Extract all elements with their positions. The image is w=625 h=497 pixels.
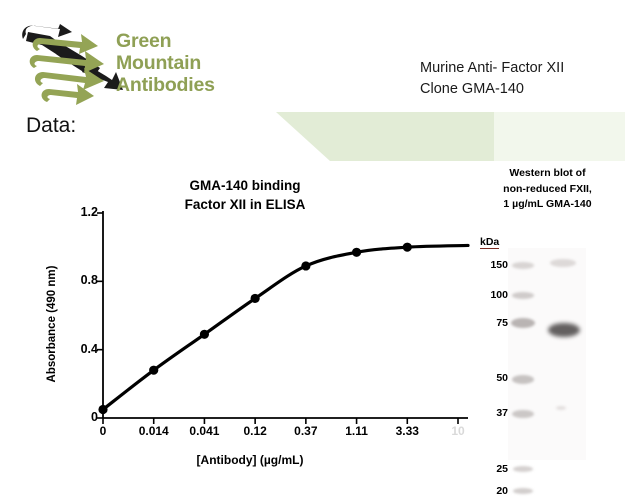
document-title-line-2: Clone GMA-140 xyxy=(420,79,564,100)
ladder-band-25 xyxy=(513,466,533,472)
ladder-label-75: 75 xyxy=(474,317,508,329)
chart-data-point-2 xyxy=(200,330,209,339)
molecular-weight-ladder-labels: 1501007550372520 xyxy=(474,166,508,486)
sample-band-faint-mid xyxy=(556,406,566,410)
sample-band-fxii xyxy=(548,323,580,337)
chart-data-point-5 xyxy=(352,248,361,257)
ladder-label-50: 50 xyxy=(474,372,508,384)
banner-band-light xyxy=(494,112,625,161)
ladder-label-37: 37 xyxy=(474,407,508,419)
brand-name-line-2: Mountain xyxy=(116,52,256,74)
chart-data-point-6 xyxy=(403,243,412,252)
section-heading-data: Data: xyxy=(26,114,76,138)
elisa-binding-chart: GMA-140 binding Factor XII in ELISA Abso… xyxy=(0,168,470,478)
ladder-band-150 xyxy=(512,262,534,269)
ladder-band-20 xyxy=(513,488,533,494)
ladder-band-50 xyxy=(512,375,534,384)
ladder-label-25: 25 xyxy=(474,463,508,475)
western-blot-image xyxy=(508,248,586,460)
ladder-label-150: 150 xyxy=(474,259,508,271)
brand-name: Green Mountain Antibodies xyxy=(116,30,256,96)
document-title: Murine Anti- Factor XII Clone GMA-140 xyxy=(420,58,564,100)
ladder-label-100: 100 xyxy=(474,289,508,301)
chart-data-point-3 xyxy=(251,294,260,303)
document-title-line-1: Murine Anti- Factor XII xyxy=(420,58,564,79)
chart-data-points xyxy=(98,243,411,414)
brand-name-line-3: Antibodies xyxy=(116,74,256,96)
ladder-band-37 xyxy=(512,410,534,418)
ladder-band-75 xyxy=(511,318,535,328)
chart-data-point-0 xyxy=(98,405,107,414)
ladder-label-20: 20 xyxy=(474,485,508,497)
chart-data-point-4 xyxy=(301,261,310,270)
sample-band-faint-top xyxy=(550,259,576,267)
chart-series-line xyxy=(103,245,468,409)
chart-data-point-1 xyxy=(149,366,158,375)
decorative-green-banner xyxy=(272,112,625,161)
chart-plot-area xyxy=(0,168,470,458)
western-blot-panel: Western blot of non-reduced FXII, 1 µg/m… xyxy=(474,166,625,486)
brand-name-line-1: Green xyxy=(116,30,256,52)
ladder-band-100 xyxy=(512,292,534,299)
